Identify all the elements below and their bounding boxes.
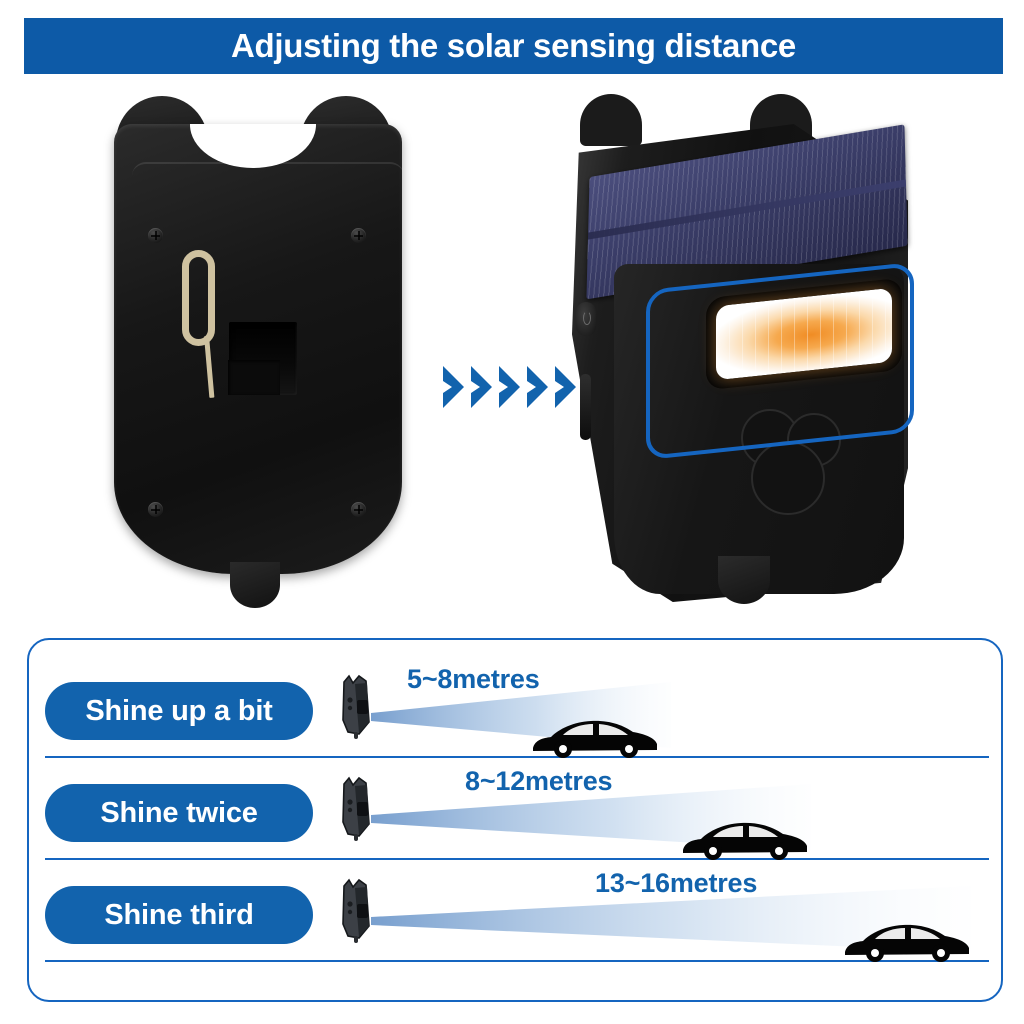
page-title: Adjusting the solar sensing distance	[231, 27, 796, 65]
row-baseline	[45, 756, 989, 758]
car-icon	[679, 812, 811, 860]
distance-row: Shine up a bit 5~8metres	[29, 658, 1003, 766]
sensor-unit-icon	[339, 878, 373, 944]
distance-measure-label: 13~16metres	[595, 868, 757, 899]
header-banner: Adjusting the solar sensing distance	[24, 18, 1003, 74]
row-baseline	[45, 858, 989, 860]
mode-pill-shine-twice[interactable]: Shine twice	[45, 784, 313, 842]
distance-settings-panel: Shine up a bit 5~8metres	[27, 638, 1003, 1002]
chevron-right-icon	[469, 363, 494, 411]
screw-icon	[351, 228, 366, 243]
mode-pill-shine-third[interactable]: Shine third	[45, 886, 313, 944]
chevron-right-icon	[497, 363, 522, 411]
car-icon	[529, 710, 661, 758]
sensor-unit-icon	[339, 776, 373, 842]
chevron-right-icon	[441, 363, 466, 411]
device-rear-body	[114, 124, 402, 574]
device-front-shell	[570, 116, 910, 606]
mode-pill-label: Shine twice	[100, 797, 257, 830]
distance-row: Shine third 13~16metres	[29, 862, 1003, 970]
solar-light-rear-view	[104, 96, 414, 606]
mode-pill-label: Shine up a bit	[85, 695, 272, 728]
sensor-unit-icon	[339, 674, 373, 740]
car-icon	[841, 914, 973, 962]
screw-icon	[351, 502, 366, 517]
reset-pin-tool-icon	[177, 250, 219, 385]
device-bottom-nub	[718, 556, 770, 604]
chevron-arrows	[441, 363, 578, 411]
screw-icon	[148, 502, 163, 517]
distance-row: Shine twice 8~12metres	[29, 760, 1003, 868]
charging-port	[580, 374, 591, 440]
chevron-right-icon	[525, 363, 550, 411]
power-button[interactable]	[576, 302, 596, 336]
mode-pill-shine-up-a-bit[interactable]: Shine up a bit	[45, 682, 313, 740]
device-bottom-nub	[230, 562, 280, 608]
hero-illustration	[0, 78, 1024, 628]
distance-measure-label: 5~8metres	[407, 664, 540, 695]
lamp-highlight-box	[646, 262, 914, 460]
mode-pill-label: Shine third	[104, 899, 253, 932]
distance-measure-label: 8~12metres	[465, 766, 612, 797]
solar-light-front-view	[570, 88, 930, 618]
reset-button-cavity	[229, 322, 297, 395]
screw-icon	[148, 228, 163, 243]
